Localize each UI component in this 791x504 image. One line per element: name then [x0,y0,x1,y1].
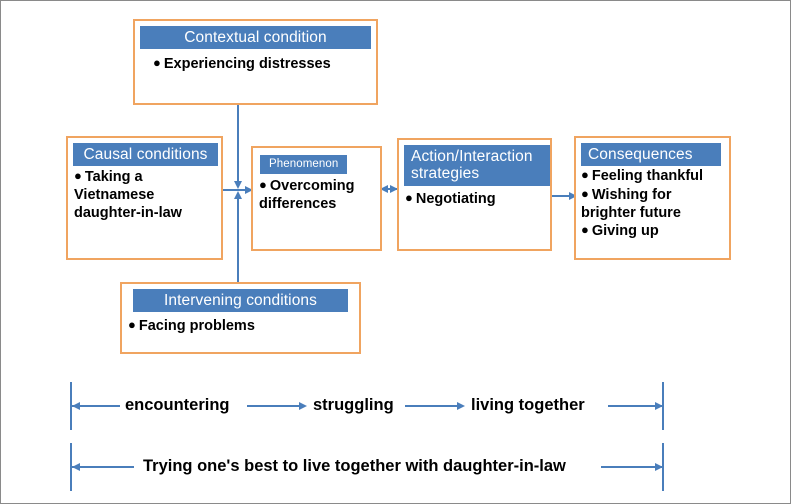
connector-contextual-to-hub [237,105,239,183]
action-item-list: ●Negotiating [399,186,550,212]
bullet-icon: ● [74,168,82,183]
process-stage-encountering: encountering [121,396,234,415]
intervening-item-0: Facing problems [139,318,255,334]
intervening-header-wrap: Intervening conditions [122,284,359,312]
intervening-item-list: ●Facing problems [122,312,359,339]
causal-item-0: Taking a Vietnamese daughter-in-law [74,169,182,220]
bullet-icon: ● [153,55,161,70]
list-item: ●Overcoming differences [259,178,376,213]
bullet-icon: ● [405,190,413,205]
box-phenomenon[interactable]: Phenomenon ●Overcoming differences [251,146,382,251]
bullet-icon: ● [581,186,589,201]
arrowhead-contextual-down [234,181,242,189]
contextual-item-list: ●Experiencing distresses [135,49,376,77]
arrowhead-process-1 [299,402,307,410]
arrowhead-intervening-up [234,191,242,199]
consequences-item-0: Feeling thankful [592,168,703,184]
diagram-canvas: Contextual condition ●Experiencing distr… [0,0,791,504]
phenomenon-item-list: ●Overcoming differences [253,174,380,216]
list-item: ●Facing problems [128,318,355,336]
box-contextual-condition[interactable]: Contextual condition ●Experiencing distr… [133,19,378,105]
phenomenon-header-wrap: Phenomenon [253,148,380,174]
action-item-0: Negotiating [416,191,496,207]
phenomenon-header: Phenomenon [260,155,347,174]
causal-header-wrap: Causal conditions [68,138,221,166]
intervening-header: Intervening conditions [133,289,348,312]
box-intervening-conditions[interactable]: Intervening conditions ●Facing problems [120,282,361,354]
list-item: ●Giving up [581,223,725,241]
causal-item-list: ●Taking a Vietnamese daughter-in-law [68,166,221,225]
list-item: ●Taking a Vietnamese daughter-in-law [74,169,217,222]
core-line-right [601,466,663,468]
action-header-wrap: Action/Interaction strategies [399,140,550,186]
consequences-header-wrap: Consequences [576,138,729,166]
contextual-header-wrap: Contextual condition [135,21,376,49]
consequences-item-2: Giving up [592,223,659,239]
phenomenon-item-0: Overcoming differences [259,178,354,212]
process-line-2 [405,405,462,407]
arrowhead-process-left [72,402,80,410]
box-causal-conditions[interactable]: Causal conditions ●Taking a Vietnamese d… [66,136,223,260]
process-stage-living-together: living together [467,396,589,415]
list-item: ●Negotiating [405,191,546,209]
box-action-interaction-strategies[interactable]: Action/Interaction strategies ●Negotiati… [397,138,552,251]
arrowhead-process-right [655,402,663,410]
list-item: ●Wishing for brighter future [581,187,725,222]
action-header: Action/Interaction strategies [404,145,550,186]
contextual-header: Contextual condition [140,26,371,49]
bullet-icon: ● [128,317,136,332]
bullet-icon: ● [581,167,589,182]
arrowhead-process-2 [457,402,465,410]
connector-intervening-to-hub [237,198,239,285]
list-item: ●Feeling thankful [581,168,725,186]
consequences-item-list: ●Feeling thankful ●Wishing for brighter … [576,166,729,244]
contextual-item-0: Experiencing distresses [164,56,331,72]
arrowhead-core-right [655,463,663,471]
process-line-1 [247,405,304,407]
list-item: ●Experiencing distresses [153,56,372,74]
core-category-label: Trying one's best to live together with … [139,457,570,476]
bullet-icon: ● [581,222,589,237]
causal-header: Causal conditions [73,143,218,166]
core-line-left [72,466,134,468]
process-stage-struggling: struggling [309,396,398,415]
arrowhead-core-left [72,463,80,471]
consequences-header: Consequences [581,143,721,166]
box-consequences[interactable]: Consequences ●Feeling thankful ●Wishing … [574,136,731,260]
bullet-icon: ● [259,177,267,192]
consequences-item-1: Wishing for brighter future [581,187,681,221]
